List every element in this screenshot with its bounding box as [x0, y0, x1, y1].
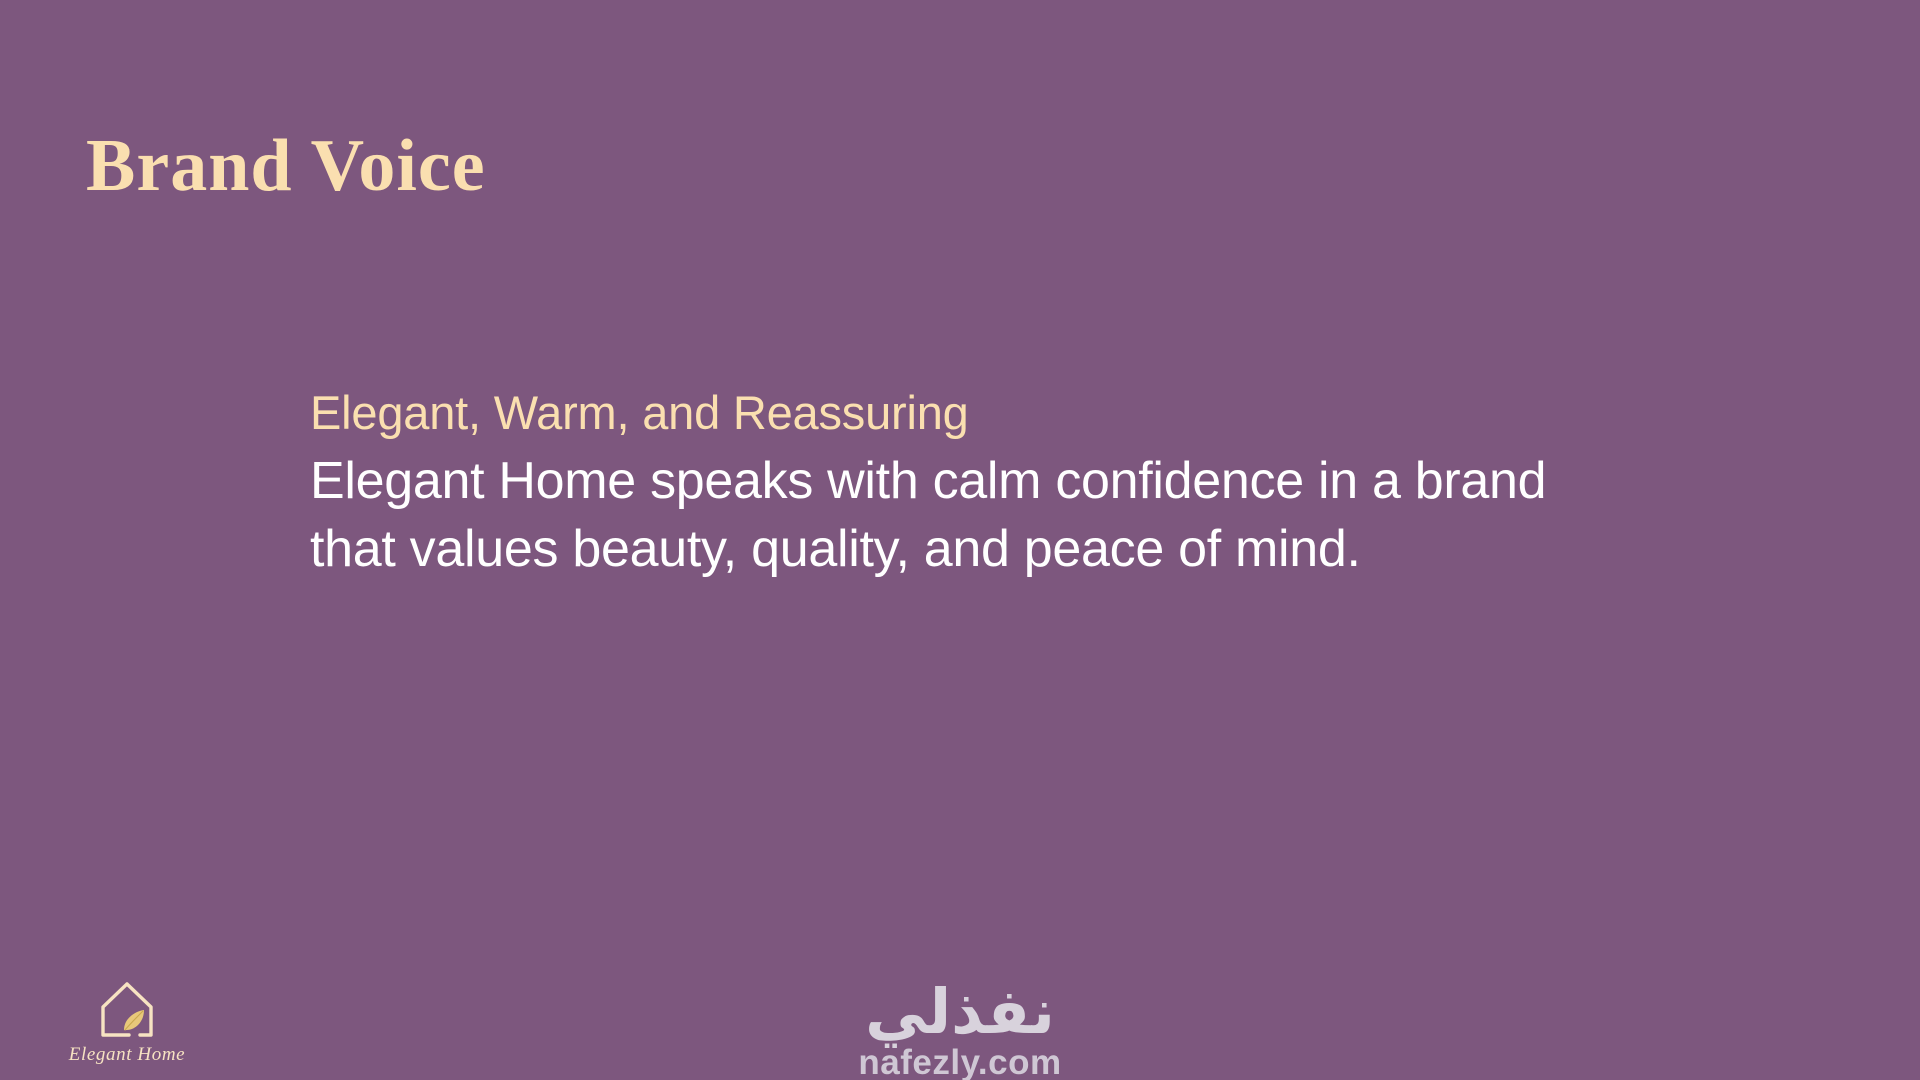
brand-logo-name: Elegant Home: [69, 1044, 185, 1066]
page-title: Brand Voice: [86, 128, 486, 206]
content-heading: Elegant, Warm, and Reassuring: [310, 385, 1640, 440]
watermark: نفذلي nafezly.com: [0, 981, 1920, 1080]
content-block: Elegant, Warm, and Reassuring Elegant Ho…: [310, 385, 1640, 584]
watermark-arabic-text: نفذلي: [865, 981, 1055, 1043]
slide-canvas: Brand Voice Elegant, Warm, and Reassurin…: [0, 0, 1920, 1080]
house-leaf-logo-icon: [98, 980, 156, 1042]
brand-logo: Elegant Home: [52, 980, 202, 1066]
watermark-domain-text: nafezly.com: [858, 1045, 1061, 1080]
content-paragraph: Elegant Home speaks with calm confidence…: [310, 448, 1640, 583]
